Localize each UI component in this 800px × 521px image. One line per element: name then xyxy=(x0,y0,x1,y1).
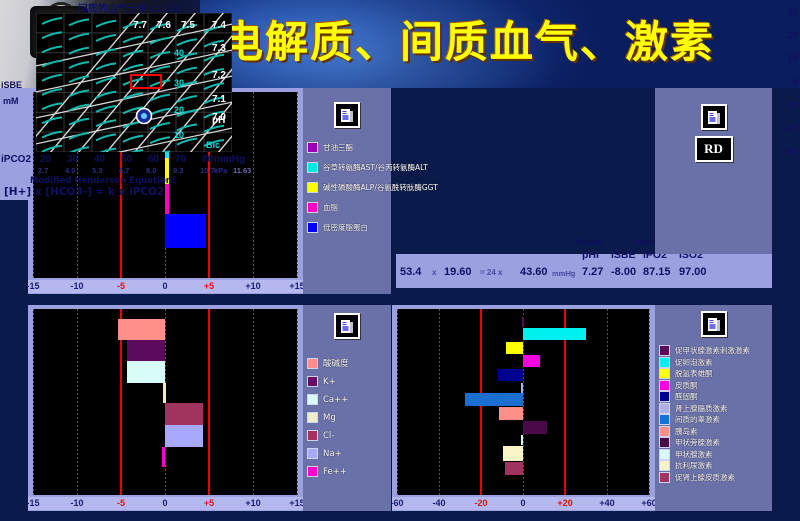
legend-label: 碱性磷酸酶ALP/谷氨酰转肽酶GGT xyxy=(323,182,438,193)
legend-label: 抗利尿激素 xyxy=(675,460,713,471)
report-tools-panel: RD xyxy=(655,88,772,254)
legend-item[interactable]: Na+ xyxy=(307,448,391,459)
legend-swatch xyxy=(307,202,318,213)
nomogram-bic-label: 20 xyxy=(174,105,184,115)
legend-item[interactable]: 促卵泡激素 xyxy=(659,357,772,368)
gridline xyxy=(297,309,298,495)
legend-swatch xyxy=(307,448,318,459)
electrolytes-panel: -15-10-50+5+10+15 xyxy=(28,305,308,511)
blood-gas-ylabel-1: iSBE xyxy=(1,80,22,90)
axis-tick: -60 xyxy=(390,498,403,508)
document-icon[interactable] xyxy=(334,313,360,339)
nomogram-x-tick-kpa: 9.3 xyxy=(173,166,183,175)
gridline xyxy=(253,92,254,278)
nomogram-ph-label: 7.1 xyxy=(212,94,226,105)
bar[interactable] xyxy=(505,462,523,475)
legend-swatch xyxy=(307,182,318,193)
nomogram-x-tick-kpa: 6.7 xyxy=(119,166,129,175)
legend-swatch xyxy=(307,376,318,387)
nomogram-svg xyxy=(36,13,232,152)
document-icon[interactable] xyxy=(334,102,360,128)
legend-item[interactable]: 皮质酮 xyxy=(659,380,772,391)
legend-swatch xyxy=(659,426,670,437)
legend-label: 甲状旁腺激素 xyxy=(675,437,720,448)
axis-tick: +10 xyxy=(245,281,260,291)
legend-label: Fe++ xyxy=(323,467,347,477)
nomogram-ph-label: 7.5 xyxy=(181,20,195,31)
legend-swatch xyxy=(659,414,670,425)
selection-marker xyxy=(131,75,161,88)
legend-label: Mg xyxy=(323,413,336,423)
bar[interactable] xyxy=(127,361,165,383)
equation-op1: x xyxy=(432,268,436,277)
legend-item[interactable]: 甲状旁腺激素 xyxy=(659,437,772,448)
legend-swatch xyxy=(307,162,318,173)
bar[interactable] xyxy=(522,317,525,327)
legend-label: 醛固酮 xyxy=(675,391,698,402)
nomogram-x-tick-mmhg: 70 xyxy=(175,154,186,165)
hormones-panel: -60-40-200+20+40+60 xyxy=(392,305,660,511)
equation-col-value: 97.00 xyxy=(679,266,707,278)
blood-gas-plot[interactable] xyxy=(36,13,232,152)
blood-gas-ylabel-2: mM xyxy=(3,96,19,106)
legend-item[interactable]: 甲状腺激素 xyxy=(659,449,772,460)
legend-label: 胰岛素 xyxy=(675,426,698,437)
axis-tick: +5 xyxy=(204,281,214,291)
hormones-plot[interactable] xyxy=(397,309,649,495)
legend-label: 促甲状腺激素刺激激素 xyxy=(675,345,750,356)
equation-col-header: iSBE xyxy=(611,249,636,261)
electrolytes-legend-list: 酸碱度K+Ca++MgCl-Na+Fe++ xyxy=(303,357,391,477)
electrolytes-legend: 酸碱度K+Ca++MgCl-Na+Fe++ xyxy=(303,305,391,511)
axis-tick: +5 xyxy=(204,498,214,508)
legend-item[interactable]: 碱性磷酸酶ALP/谷氨酰转肽酶GGT xyxy=(307,182,391,193)
bar[interactable] xyxy=(165,403,203,425)
nomogram-bic-label: 40 xyxy=(174,48,184,58)
gridline xyxy=(297,92,298,278)
nomogram-ph-label: 7.7 xyxy=(133,20,147,31)
axis-tick: -20 xyxy=(474,498,487,508)
equation-v1: 53.4 xyxy=(400,266,421,278)
legend-label: Cl- xyxy=(323,431,334,441)
legend-swatch xyxy=(307,142,318,153)
equation-v3-unit: mmHg xyxy=(552,269,575,278)
equation-col-header: pHi xyxy=(582,249,599,261)
legend-item[interactable]: 间质的睾激素 xyxy=(659,414,772,425)
nomogram-x-tick-mmhg: 40 xyxy=(94,154,105,165)
legend-swatch xyxy=(659,437,670,448)
bar[interactable] xyxy=(498,369,523,381)
legend-item[interactable]: 促甲状腺激素刺激激素 xyxy=(659,345,772,356)
nomogram-y-tick: 10 xyxy=(766,54,798,65)
legend-swatch xyxy=(307,430,318,441)
legend-label: 脱氢表雄酮 xyxy=(675,368,713,379)
legend-item[interactable]: K+ xyxy=(307,376,391,387)
legend-swatch xyxy=(307,412,318,423)
lipids-legend: 甘油三酯谷草转氨酶AST/谷丙转氨酶ALT碱性磷酸酶ALP/谷氨酰转肽酶GGT血… xyxy=(303,88,391,294)
nomogram-y-tick: 30 xyxy=(766,8,798,19)
legend-item[interactable]: 血脂 xyxy=(307,202,391,213)
lipids-legend-list: 甘油三酯谷草转氨酶AST/谷丙转氨酶ALT碱性磷酸酶ALP/谷氨酰转肽酶GGT血… xyxy=(303,142,391,233)
axis-tick: -5 xyxy=(117,498,125,508)
legend-item[interactable]: 促肾上腺皮质激素 xyxy=(659,472,772,483)
legend-item[interactable]: 肾上腺髓质激素 xyxy=(659,403,772,414)
legend-item[interactable]: 醛固酮 xyxy=(659,391,772,402)
legend-item[interactable]: Cl- xyxy=(307,430,391,441)
nomogram-ph-label: 7.3 xyxy=(212,43,226,54)
legend-swatch xyxy=(659,345,670,356)
nomogram-x-tick-kpa: 10.7 xyxy=(200,166,215,175)
equation-col-value: 7.27 xyxy=(582,266,603,278)
axis-tick: 0 xyxy=(162,498,167,508)
equation-values-row: 53.4 x 19.60 = 24 x 43.60 mmHg Overall M… xyxy=(396,254,772,288)
axis-tick: -15 xyxy=(26,281,39,291)
legend-swatch xyxy=(659,357,670,368)
legend-label: 谷草转氨酶AST/谷丙转氨酶ALT xyxy=(323,162,428,173)
bar[interactable] xyxy=(521,435,524,445)
legend-item[interactable]: 脱氢表雄酮 xyxy=(659,368,772,379)
legend-item[interactable]: 谷草转氨酶AST/谷丙转氨酶ALT xyxy=(307,162,391,173)
legend-swatch xyxy=(659,472,670,483)
bar[interactable] xyxy=(506,342,523,354)
bar[interactable] xyxy=(503,446,523,461)
document-icon[interactable] xyxy=(701,311,727,337)
bar[interactable] xyxy=(162,447,165,467)
bar[interactable] xyxy=(523,355,540,367)
blood-gas-x-axis-title: iPCO2 xyxy=(1,154,31,165)
legend-item[interactable]: 甘油三酯 xyxy=(307,142,391,153)
bar[interactable] xyxy=(165,214,206,248)
legend-item[interactable]: 胰岛素 xyxy=(659,426,772,437)
blood-gas-xkpa-max: 11.63 xyxy=(233,166,251,175)
equation-col-value: -8.00 xyxy=(611,266,636,278)
bar[interactable] xyxy=(499,407,523,420)
equation-col-value: 87.15 xyxy=(643,266,671,278)
axis-tick: -40 xyxy=(432,498,445,508)
legend-label: 酸碱度 xyxy=(323,357,349,369)
nomogram-x-tick-mmhg: 20 xyxy=(40,154,51,165)
nomogram-bic-label: 30 xyxy=(174,78,184,88)
legend-swatch xyxy=(307,358,318,369)
legend-item[interactable]: 低密度脂蛋白 xyxy=(307,222,391,233)
legend-swatch xyxy=(659,380,670,391)
legend-swatch xyxy=(659,403,670,414)
blood-gas-bic-axis-label: Bic xyxy=(206,140,220,150)
axis-tick: 0 xyxy=(162,281,167,291)
gridline xyxy=(397,309,398,495)
bar[interactable] xyxy=(118,319,165,340)
axis-tick: +40 xyxy=(599,498,614,508)
gridline xyxy=(649,309,650,495)
axis-tick: +10 xyxy=(245,498,260,508)
slide-root: 脂质、电解质、间质血气、激素 -15-10-50+5+10+15 甘油三酯谷草转… xyxy=(0,0,800,521)
legend-label: Ca++ xyxy=(323,395,348,405)
nomogram-x-tick-mmhg: 80 xyxy=(202,154,213,165)
gridline xyxy=(33,309,34,495)
bar[interactable] xyxy=(465,393,523,406)
legend-item[interactable]: Fe++ xyxy=(307,466,391,477)
legend-label: 血脂 xyxy=(323,202,338,213)
legend-label: 甘油三酯 xyxy=(323,142,353,153)
nomogram-ph-label: 7.4 xyxy=(212,20,226,31)
nomogram-ph-label: 7.6 xyxy=(157,20,171,31)
legend-label: 皮质酮 xyxy=(675,380,698,391)
legend-label: 促肾上腺皮质激素 xyxy=(675,472,735,483)
legend-swatch xyxy=(659,460,670,471)
legend-swatch xyxy=(307,394,318,405)
nomogram-x-tick-kpa: 4.0 xyxy=(65,166,75,175)
legend-swatch xyxy=(659,368,670,379)
equation-op2: = 24 x xyxy=(480,268,502,277)
nomogram-x-tick-mmhg: 60 xyxy=(148,154,159,165)
legend-swatch xyxy=(659,391,670,402)
nomogram-x-tick-kpa: 8.0 xyxy=(146,166,156,175)
axis-tick: 0 xyxy=(520,498,525,508)
equation-v3: 43.60 xyxy=(520,266,548,278)
bar[interactable] xyxy=(521,383,524,393)
legend-label: 低密度脂蛋白 xyxy=(323,222,368,233)
gridline xyxy=(439,309,440,495)
hormones-legend-list: 促甲状腺激素刺激激素促卵泡激素脱氢表雄酮皮质酮醛固酮肾上腺髓质激素间质的睾激素胰… xyxy=(655,345,772,483)
blood-gas-xunit-kpa: kPa xyxy=(214,166,227,175)
axis-tick: -5 xyxy=(117,281,125,291)
gridline xyxy=(77,309,78,495)
nomogram-x-tick-mmhg: 30 xyxy=(67,154,78,165)
gridline xyxy=(253,309,254,495)
reference-line xyxy=(208,309,210,495)
document-icon[interactable] xyxy=(701,104,727,130)
legend-label: K+ xyxy=(323,377,336,387)
bar[interactable] xyxy=(127,340,165,361)
bar[interactable] xyxy=(163,383,166,403)
nomogram-x-tick-mmhg: 50 xyxy=(121,154,132,165)
nomogram-x-tick-kpa: 2.7 xyxy=(38,166,48,175)
blood-gas-ph-axis-label: pH xyxy=(212,115,225,126)
bar[interactable] xyxy=(523,328,586,340)
hormones-x-axis: -60-40-200+20+40+60 xyxy=(392,497,660,510)
legend-item[interactable]: 抗利尿激素 xyxy=(659,460,772,471)
nomogram-y-tick: 0 xyxy=(766,77,798,88)
legend-label: 促卵泡激素 xyxy=(675,357,713,368)
equation-caption: Modified Henderson Equation: xyxy=(30,176,175,186)
axis-tick: -15 xyxy=(26,498,39,508)
legend-swatch xyxy=(307,466,318,477)
legend-label: 间质的睾激素 xyxy=(675,414,720,425)
nomogram-y-tick: 20 xyxy=(766,31,798,42)
legend-label: 甲状腺激素 xyxy=(675,449,713,460)
legend-item[interactable]: Ca++ xyxy=(307,394,391,405)
electrolytes-x-axis: -15-10-50+5+10+15 xyxy=(28,497,308,510)
bar[interactable] xyxy=(165,184,169,214)
legend-item[interactable]: Mg xyxy=(307,412,391,423)
axis-tick: +20 xyxy=(557,498,572,508)
legend-item[interactable]: 酸碱度 xyxy=(307,357,391,369)
legend-swatch xyxy=(659,449,670,460)
equation-formula: [H+] x [HCO3-] = k x iPCO2 xyxy=(4,186,164,198)
equation-v2: 19.60 xyxy=(444,266,472,278)
blood-gas-panel: 间质的血气分析 (12.3) 3020100-10-20-30 iSBE mM … xyxy=(0,0,256,200)
equation-group-overall: Overall xyxy=(576,238,603,247)
nomogram-ph-label: 7.2 xyxy=(212,70,226,81)
axis-tick: -10 xyxy=(70,498,83,508)
bar[interactable] xyxy=(523,421,547,434)
axis-tick: -10 xyxy=(70,281,83,291)
legend-swatch xyxy=(307,222,318,233)
nomogram-x-tick-kpa: 5.3 xyxy=(92,166,102,175)
bar[interactable] xyxy=(165,425,203,447)
blood-gas-xunit-mmhg: mmHg xyxy=(214,154,245,165)
nomogram-bic-label: 10 xyxy=(174,130,184,140)
lipids-x-axis: -15-10-50+5+10+15 xyxy=(28,280,308,293)
hormones-legend: 促甲状腺激素刺激激素促卵泡激素脱氢表雄酮皮质酮醛固酮肾上腺髓质激素间质的睾激素胰… xyxy=(655,305,772,511)
legend-label: 肾上腺髓质激素 xyxy=(675,403,728,414)
legend-label: Na+ xyxy=(323,449,342,459)
electrolytes-plot[interactable] xyxy=(33,309,297,495)
rd-button[interactable]: RD xyxy=(695,136,733,162)
gridline xyxy=(607,309,608,495)
